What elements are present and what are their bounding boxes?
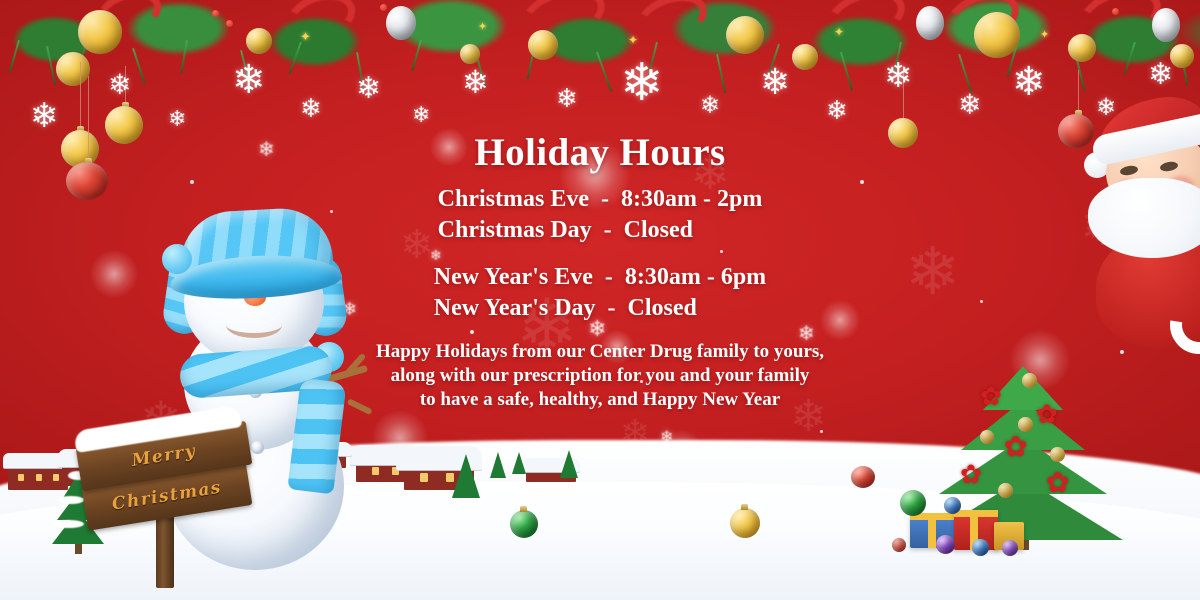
pine-needle-icon <box>1180 50 1188 86</box>
house-window <box>372 467 379 475</box>
pine-needle-icon <box>288 42 302 75</box>
pine-needle-icon <box>180 40 188 74</box>
poinsettia-icon: ✿ <box>960 462 982 488</box>
pine-needle-icon <box>9 40 20 73</box>
snowflake-icon: ❄ <box>1148 60 1173 90</box>
snowman-arm <box>347 398 373 415</box>
ornament-bauble <box>726 16 764 54</box>
pine-needle-icon <box>1074 52 1086 91</box>
snowman-button <box>251 441 264 454</box>
ornament-bauble <box>78 10 122 54</box>
snowman-hat-pompom <box>162 244 192 274</box>
snow-dot <box>820 430 823 433</box>
snowflake-icon: ❄ <box>690 150 730 198</box>
merry-christmas-sign: Christmas Merry <box>78 408 250 588</box>
ornament-bauble <box>1002 540 1018 556</box>
snow-dot <box>190 180 194 184</box>
snowflake-icon: ❄ <box>430 250 442 264</box>
pine-needle-icon <box>1124 42 1136 75</box>
house-body <box>404 464 474 490</box>
ornament-bauble <box>892 538 906 552</box>
holly-berry-icon <box>226 20 233 27</box>
ornament-bauble <box>105 106 143 144</box>
snowflake-icon: ❄ <box>798 324 815 344</box>
snowflake-icon: ❄ <box>588 318 606 340</box>
snowflake-icon: ❄ <box>356 74 381 104</box>
ornament-bauble <box>972 539 989 556</box>
snowflake-icon: ❄ <box>560 442 582 468</box>
snowflake-icon: ❄ <box>108 72 131 100</box>
snow-dot <box>640 380 643 383</box>
tree-ornament <box>1018 417 1033 432</box>
star-icon: ✦ <box>628 34 638 46</box>
house-body <box>526 468 576 482</box>
holly-berry-icon <box>1112 8 1119 15</box>
new-year-hours-group: New Year's Eve - 8:30am - 6pm New Year's… <box>434 262 766 324</box>
pine-tree-icon <box>490 452 506 478</box>
ornament-bauble <box>1152 8 1180 42</box>
pine-needle-icon <box>527 44 536 80</box>
light-glow <box>820 300 860 340</box>
snowflake-icon: ❄ <box>300 96 322 122</box>
light-glow <box>560 140 630 210</box>
santa-claus-figure <box>1076 100 1200 280</box>
ornament-bauble <box>974 12 1020 58</box>
snow-dot <box>980 300 983 303</box>
snowflake-icon: ❄ <box>620 58 664 110</box>
gift-ribbon <box>954 510 998 517</box>
pine-needle-icon <box>411 40 422 71</box>
ornament-bauble <box>56 52 90 86</box>
snowflake-icon: ❄ <box>515 290 579 366</box>
house-window <box>36 474 42 481</box>
pine-needle-icon <box>958 54 973 95</box>
ornament-bauble <box>66 162 108 200</box>
snowflake-icon: ❄ <box>958 92 981 120</box>
pine-needle-icon <box>716 54 726 94</box>
ribbon-icon <box>91 0 167 43</box>
ornament-bauble <box>888 118 918 148</box>
snowflake-icon: ❄ <box>232 60 266 100</box>
snow-dot <box>1120 350 1124 354</box>
ribbon-icon <box>281 0 362 50</box>
star-icon: ✦ <box>478 22 487 33</box>
snowflake-icon: ❄ <box>258 140 275 160</box>
snowflake-icon: ❄ <box>30 100 59 134</box>
holiday-hours-banner: ❄ ❄ ❄ ❄ ❄ ❄ ❄ ❄ ❄ <box>0 0 1200 600</box>
ornament-bauble <box>851 466 875 488</box>
poinsettia-icon: ✿ <box>1046 470 1069 498</box>
house-window <box>446 473 454 482</box>
ribbon-icon <box>821 0 912 51</box>
star-icon: ✦ <box>834 26 844 38</box>
ornament-bauble <box>528 30 558 60</box>
hours-row-christmas-day: Christmas Day - Closed <box>438 215 763 246</box>
ornament-bauble <box>246 28 272 54</box>
ornament-bauble <box>900 490 926 516</box>
snowflake-icon: ❄ <box>168 108 186 130</box>
poinsettia-icon: ✿ <box>1036 402 1058 428</box>
page-title: Holiday Hours <box>0 130 1200 175</box>
poinsettia-icon: ✿ <box>980 384 1002 410</box>
snowflake-icon: ❄ <box>905 240 960 306</box>
ornament-bauble <box>792 44 818 70</box>
tree-ornament <box>1050 447 1065 462</box>
light-glow <box>372 410 428 466</box>
christmas-tree: ✿ ✿ ✿ ✿ ✿ <box>918 360 1128 550</box>
pine-needle-icon <box>77 38 90 67</box>
pine-needle-icon <box>840 52 853 91</box>
ornament-cap <box>520 506 527 512</box>
ornament-bauble <box>944 497 961 514</box>
ornament-string <box>88 76 89 162</box>
ribbon-icon <box>631 0 713 50</box>
ribbon-icon <box>941 0 1026 50</box>
pine-tree-icon <box>452 454 480 498</box>
holly-berry-icon <box>380 4 387 11</box>
snowflake-icon: ❄ <box>462 66 489 98</box>
village-house <box>396 436 482 490</box>
snowflake-icon: ❄ <box>660 430 673 446</box>
ornament-string <box>80 62 81 130</box>
snowman-mouth <box>226 312 282 338</box>
pine-needle-icon <box>46 46 56 86</box>
snowflake-icon: ❄ <box>400 225 434 265</box>
snowflake-icon: ❄ <box>1012 62 1046 102</box>
snow-dot <box>720 250 723 253</box>
ornament-bauble <box>730 508 760 538</box>
snowflake-icon: ❄ <box>556 86 578 112</box>
snow-dot <box>860 180 864 184</box>
pine-needle-icon <box>596 52 612 92</box>
snowflake-icon: ❄ <box>412 104 430 126</box>
hours-row-christmas-eve: Christmas Eve - 8:30am - 2pm <box>438 184 763 215</box>
snowflake-icon: ❄ <box>700 94 720 118</box>
tree-ornament <box>980 430 994 444</box>
ornament-bauble <box>916 6 944 40</box>
snow-dot <box>470 330 474 334</box>
santa-beard <box>1088 178 1200 258</box>
tree-ornament <box>1022 373 1037 388</box>
ornament-cap <box>741 504 748 510</box>
snowflake-icon: ❄ <box>884 60 913 94</box>
holly-berry-icon <box>212 10 219 17</box>
ornament-bauble <box>510 510 538 538</box>
ornament-bauble <box>1068 34 1096 62</box>
house-window <box>392 467 399 475</box>
hours-row-new-years-eve: New Year's Eve - 8:30am - 6pm <box>434 262 766 293</box>
snowflake-icon: ❄ <box>760 64 790 100</box>
house-window <box>420 473 428 482</box>
house-roof <box>3 453 73 468</box>
christmas-hours-group: Christmas Eve - 8:30am - 2pm Christmas D… <box>438 184 763 246</box>
light-glow <box>430 128 468 166</box>
house-roof <box>396 446 482 470</box>
ornament-bauble <box>1170 44 1194 68</box>
poinsettia-icon: ✿ <box>1004 434 1027 462</box>
ornament-bauble <box>460 44 480 64</box>
ribbon-icon <box>1072 0 1167 52</box>
star-icon: ✦ <box>300 30 311 43</box>
pine-tree-icon <box>512 452 526 474</box>
tree-ornament <box>998 483 1013 498</box>
snowflake-icon: ❄ <box>620 415 650 451</box>
snowflake-icon: ❄ <box>826 98 848 124</box>
ornament-bauble <box>386 6 416 40</box>
star-icon: ✦ <box>1040 30 1049 41</box>
ribbon-icon <box>514 0 611 52</box>
pine-needle-icon <box>132 48 146 85</box>
ornament-bauble <box>936 535 955 554</box>
house-window <box>18 474 24 481</box>
